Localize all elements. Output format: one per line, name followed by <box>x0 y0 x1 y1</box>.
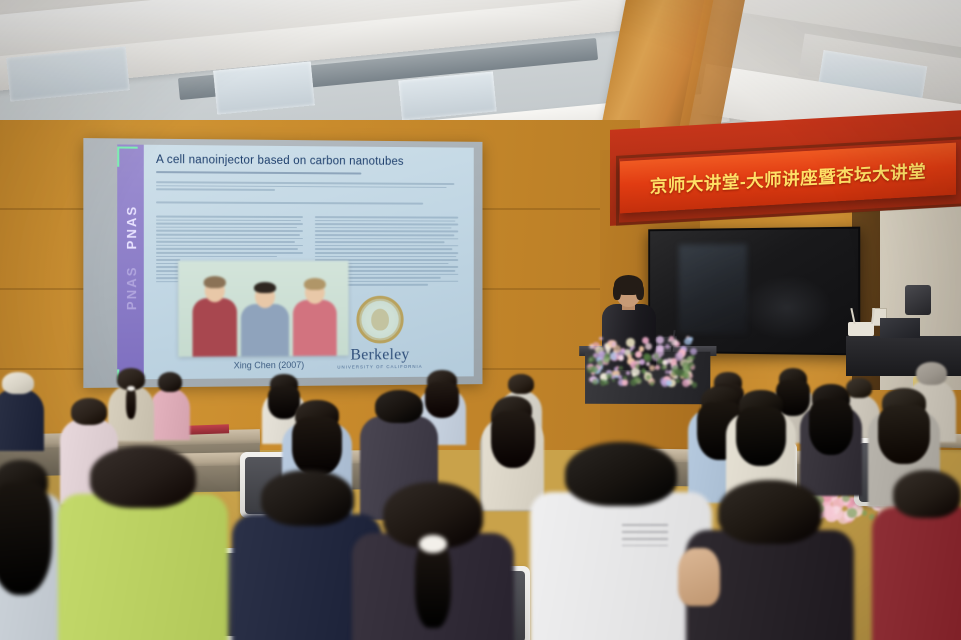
long-hair <box>0 483 52 595</box>
head <box>718 480 822 544</box>
berkeley-subtitle: UNIVERSITY OF CALIFORNIA <box>337 364 424 370</box>
torso <box>0 389 44 451</box>
torso <box>58 494 228 640</box>
attendee-cap <box>0 372 44 456</box>
attendee-back <box>150 372 190 444</box>
long-hair <box>736 407 786 467</box>
head <box>916 362 947 385</box>
berkeley-wordmark: Berkeley <box>337 346 424 364</box>
attendee-green-shirt <box>58 446 228 640</box>
slide-title: A cell nanoinjector based on carbon nano… <box>156 154 464 168</box>
attendee-white-tee <box>530 442 712 640</box>
screen-corner-marker-icon <box>117 146 137 166</box>
torso <box>150 388 190 440</box>
av-laptop <box>880 318 920 338</box>
av-router <box>848 322 874 336</box>
shirt-print <box>622 524 668 546</box>
attendee-left-edge <box>0 460 64 640</box>
torso <box>872 507 961 640</box>
slide-affiliations <box>156 181 460 194</box>
red-folder <box>187 424 229 434</box>
long-hair <box>491 411 536 468</box>
head <box>90 446 195 508</box>
projection-screen: PNAS PNAS A cell nanoinjector based on c… <box>83 138 482 388</box>
slide-group-photo <box>178 261 348 357</box>
slide-photo-caption: Xing Chen (2007) <box>178 359 358 370</box>
slide-edited-by <box>156 201 454 206</box>
attendee-right-edge <box>872 470 961 640</box>
berkeley-logo: Berkeley UNIVERSITY OF CALIFORNIA <box>337 296 424 370</box>
head <box>375 390 423 423</box>
head <box>2 372 34 394</box>
head <box>158 372 183 392</box>
head <box>565 442 678 506</box>
ceiling-light-panel <box>213 61 315 114</box>
attendee-ponytail <box>352 482 514 640</box>
head <box>893 470 961 518</box>
long-hair <box>809 399 854 455</box>
lecture-hall-photo: PNAS PNAS A cell nanoinjector based on c… <box>0 0 961 640</box>
av-device <box>905 285 931 315</box>
hair-tie <box>127 386 135 391</box>
head <box>508 374 534 394</box>
berkeley-seal-icon <box>356 296 403 344</box>
hair-tie <box>419 535 447 553</box>
hand-holding-phone <box>678 548 720 606</box>
ponytail <box>126 386 136 418</box>
flower-arrangement <box>586 336 698 384</box>
head <box>261 470 354 526</box>
projected-slide: PNAS PNAS A cell nanoinjector based on c… <box>117 144 474 379</box>
pnas-label-echo: PNAS <box>124 247 139 328</box>
long-hair <box>292 417 342 477</box>
slide-authors <box>156 171 454 177</box>
long-hair <box>878 405 930 465</box>
pnas-sidebar: PNAS PNAS <box>117 144 144 379</box>
head <box>71 398 107 425</box>
venue-banner-text: 京师大讲堂-大师讲座暨杏坛大讲堂 <box>650 158 926 198</box>
